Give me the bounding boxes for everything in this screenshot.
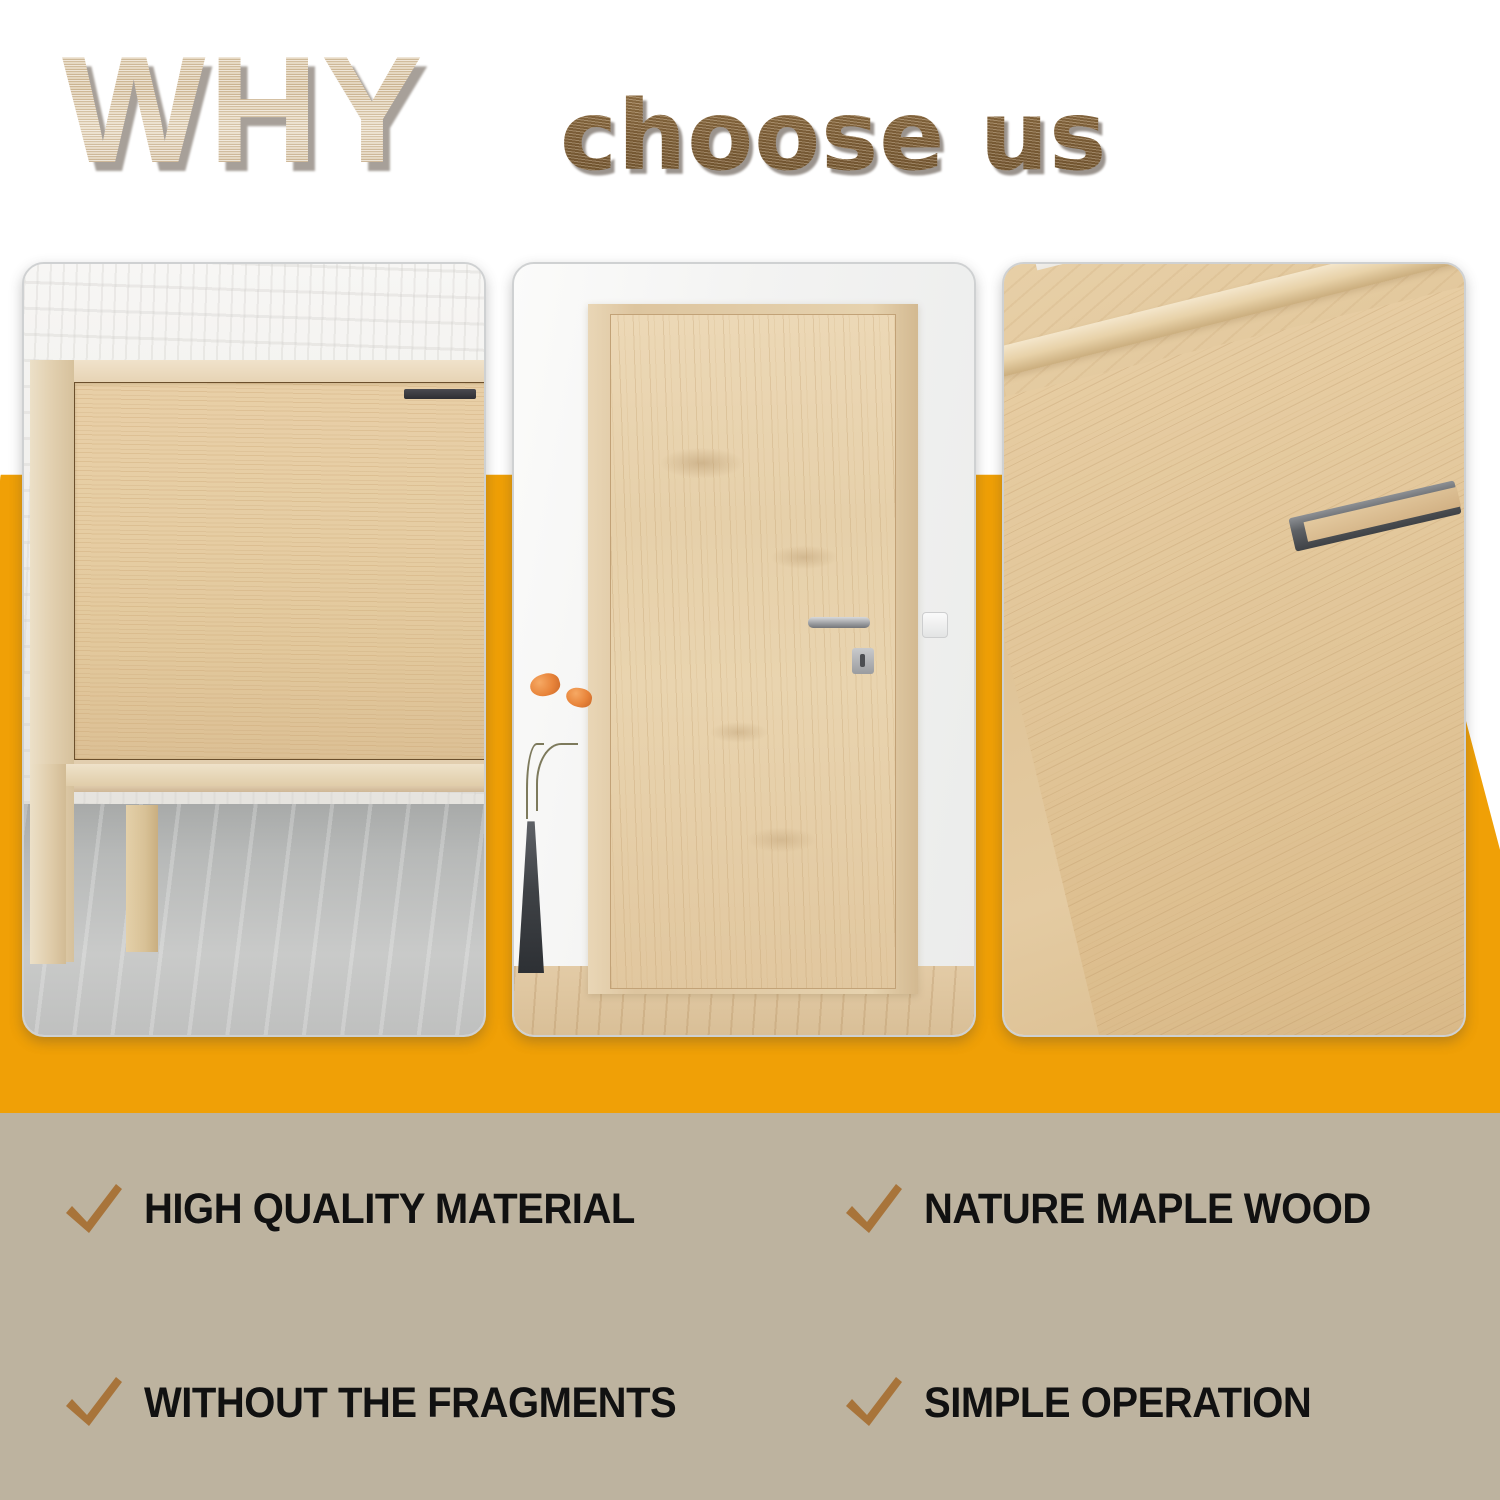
photo-1-content — [24, 264, 484, 1035]
cabinet-bottom-rail — [30, 764, 486, 786]
check-icon — [62, 1374, 126, 1432]
photo-maple-sideboard-cabinet — [22, 262, 486, 1037]
benefit-label: NATURE MAPLE WOOD — [924, 1185, 1371, 1234]
photo-3-content — [1004, 264, 1464, 1035]
photo-oak-interior-door — [512, 262, 976, 1037]
cabinet-bar-handle — [404, 389, 476, 399]
concrete-floor — [24, 804, 484, 1035]
photo-cabinet-corner-handle-closeup — [1002, 262, 1466, 1037]
door-lock-escutcheon — [852, 648, 874, 674]
benefit-item-without-the-fragments: WITHOUT THE FRAGMENTS — [0, 1306, 800, 1500]
benefit-label: SIMPLE OPERATION — [924, 1379, 1311, 1428]
header: WHY choose us — [0, 0, 1500, 232]
benefit-item-simple-operation: SIMPLE OPERATION — [800, 1306, 1500, 1500]
infographic-page: WHY choose us — [0, 0, 1500, 1500]
check-icon — [842, 1374, 906, 1432]
photo-gallery — [0, 262, 1500, 1037]
cabinet-leg-middle — [126, 805, 158, 951]
page-title-why: WHY — [62, 34, 426, 186]
benefit-label: WITHOUT THE FRAGMENTS — [144, 1379, 676, 1428]
benefit-label: HIGH QUALITY MATERIAL — [144, 1185, 635, 1234]
check-icon — [842, 1181, 906, 1239]
cabinet-front-panel — [1002, 264, 1466, 1037]
benefits-grid: HIGH QUALITY MATERIAL NATURE MAPLE WOOD … — [0, 1113, 1500, 1500]
light-switch — [922, 612, 948, 638]
cabinet-leg-left — [30, 764, 66, 964]
check-icon — [62, 1181, 126, 1239]
benefit-item-nature-maple-wood: NATURE MAPLE WOOD — [800, 1113, 1500, 1306]
page-title-choose-us: choose us — [560, 88, 1107, 184]
cabinet-drop-door — [74, 382, 486, 760]
photo-2-content — [514, 264, 974, 1035]
benefits-panel: HIGH QUALITY MATERIAL NATURE MAPLE WOOD … — [0, 1113, 1500, 1500]
door-lever-handle — [808, 617, 870, 628]
benefit-item-high-quality-material: HIGH QUALITY MATERIAL — [0, 1113, 800, 1306]
